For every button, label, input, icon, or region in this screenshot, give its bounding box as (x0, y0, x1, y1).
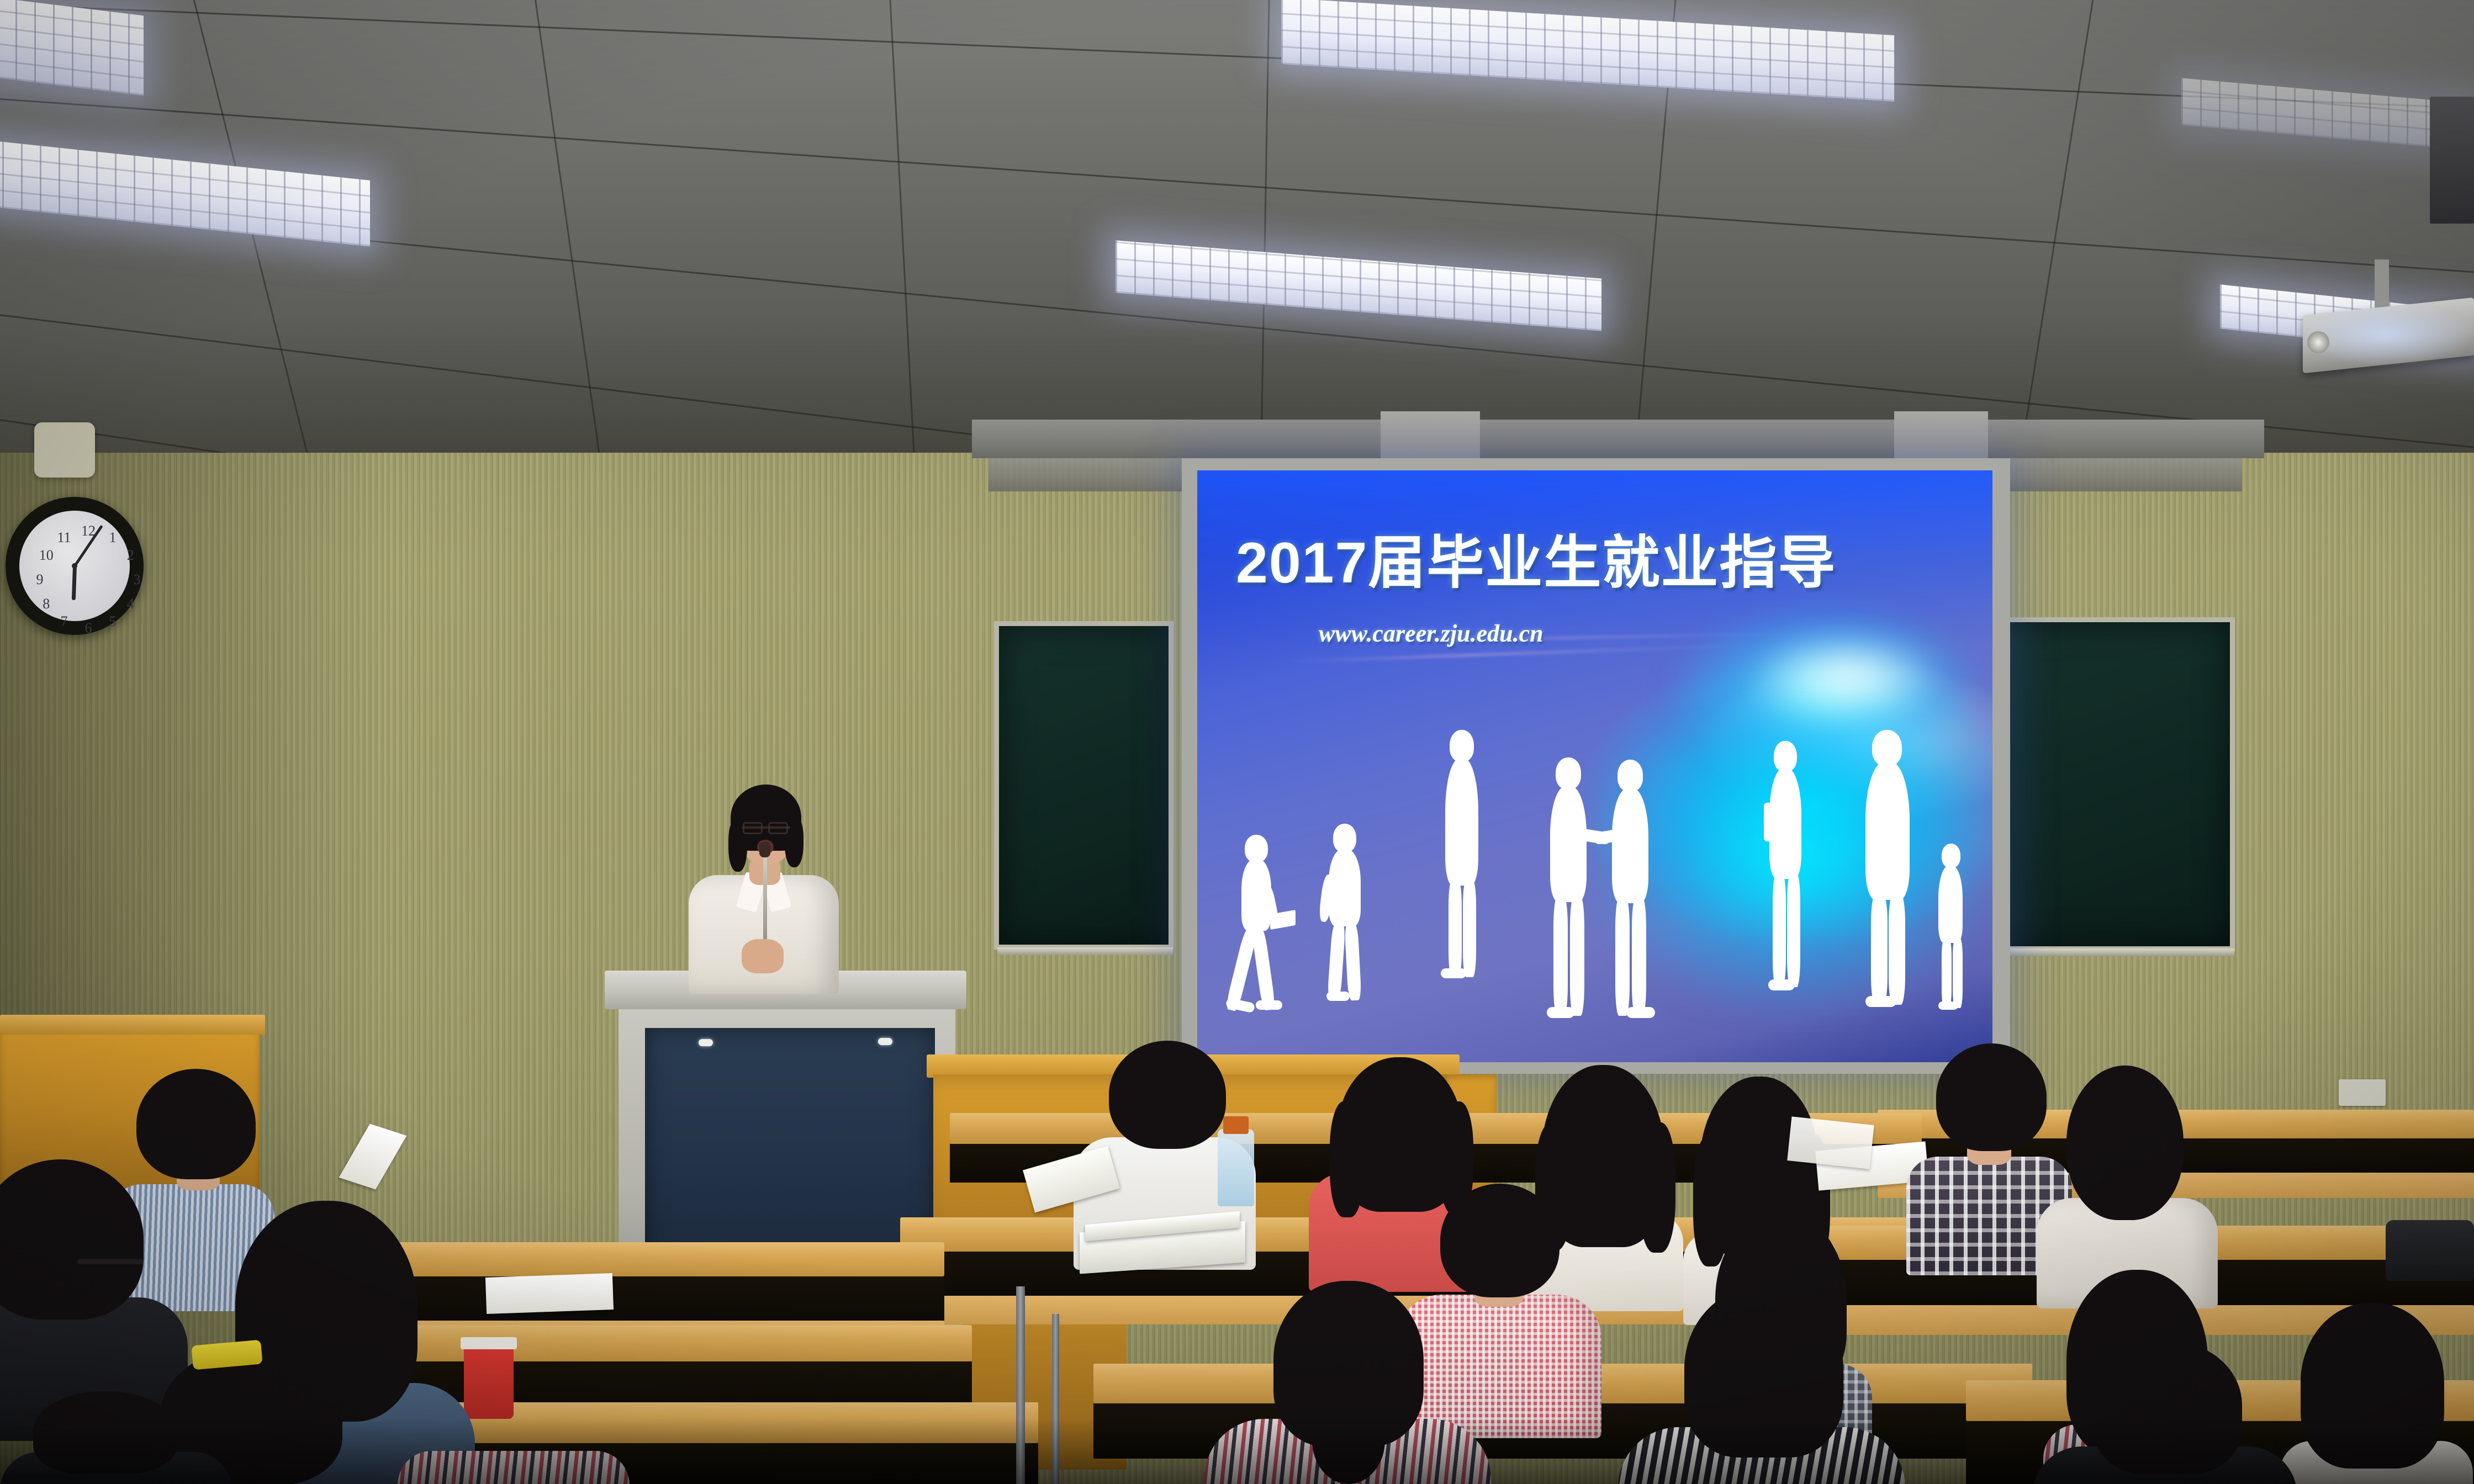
wall-clock: 121234567891011 (6, 497, 144, 635)
student-hair-strand (1330, 1101, 1364, 1217)
left-partition-cap (0, 1015, 265, 1035)
student-hair (1109, 1041, 1226, 1149)
floor-shading (0, 1418, 2474, 1484)
podium-fixture (878, 1038, 892, 1045)
clock-numeral: 6 (79, 619, 98, 638)
clock-numeral: 10 (37, 546, 56, 565)
slide-content: 2017届毕业生就业指导 www.career.zju.edu.cn (1197, 470, 1992, 1062)
ceiling-light (0, 140, 370, 247)
blackboard-left (994, 621, 1173, 950)
clock-numeral: 11 (55, 528, 73, 547)
paper-stack (1787, 1116, 1874, 1169)
ceiling (0, 0, 2474, 453)
blackboard-right (1984, 617, 2235, 951)
clock-numeral: 5 (103, 612, 122, 631)
glasses-icon (77, 1259, 144, 1264)
ceiling-grid-line (2006, 0, 2111, 453)
backpack (2386, 1220, 2474, 1281)
slide-url: www.career.zju.edu.cn (1319, 619, 1543, 648)
ceiling-speaker (2430, 97, 2474, 224)
glasses-icon (743, 822, 763, 834)
slide-figure-standing-tall (1437, 730, 1486, 978)
student-hair-strand (1639, 1122, 1675, 1253)
microphone-head-icon (759, 842, 770, 857)
chalk-tray-right (1987, 948, 2234, 956)
microphone-icon (763, 847, 767, 952)
ceiling-grid-line (0, 182, 2474, 453)
slide-figure-walking-businessman (1231, 835, 1284, 1011)
ceiling-light (1281, 0, 1894, 102)
student-hair (2066, 1066, 2184, 1220)
slide-figure-standing-bag (1762, 741, 1811, 995)
glasses-icon (768, 822, 788, 834)
slide-figure-standing-large (1858, 730, 1917, 1006)
student-white-blouse (2032, 1060, 2231, 1281)
slide-figure-walking-2 (1320, 824, 1371, 1000)
student-hair (1936, 1043, 2047, 1151)
water-bottle (1218, 1129, 1254, 1206)
podium-fixture (699, 1039, 713, 1046)
ceiling-grid-line (1259, 0, 1272, 453)
ceiling-light (1116, 240, 1601, 331)
clock-numeral: 3 (128, 570, 146, 589)
clock-numeral: 8 (37, 595, 56, 613)
chalk-tray-left (997, 947, 1173, 955)
lecture-hall-photo: 121234567891011 2017届毕业生就业指导 www.career.… (0, 0, 2474, 1484)
projector-lens (2307, 331, 2329, 353)
slide-figure-handshake-pair (1542, 757, 1669, 1022)
clock-numeral: 2 (121, 546, 140, 565)
slide-title: 2017届毕业生就业指导 (1236, 516, 1836, 599)
ceiling-light (0, 0, 144, 96)
screen-valance-bracket (1381, 411, 1480, 464)
clock-face: 121234567891011 (19, 511, 130, 621)
projection-screen: 2017届毕业生就业指导 www.career.zju.edu.cn (1182, 458, 2010, 1074)
slide-white-highlight (1755, 636, 1943, 719)
ceiling-grid-line (0, 0, 2474, 121)
slide-figure-standing-small (1932, 844, 1970, 1009)
clock-numeral: 4 (121, 595, 140, 613)
wall-box (34, 422, 95, 478)
presenter (682, 776, 848, 985)
clock-hour-hand (71, 566, 76, 600)
screen-valance-bracket (1894, 411, 1988, 464)
ceiling-grid-line (884, 0, 920, 453)
clock-numeral: 7 (55, 612, 73, 631)
presenter-hands (742, 939, 784, 973)
clock-numeral: 1 (103, 528, 122, 547)
screen-valance (972, 420, 2264, 458)
student-hair (0, 1159, 144, 1319)
paper-stack (485, 1273, 614, 1314)
wall-plate (2339, 1079, 2386, 1106)
clock-numeral: 9 (30, 570, 49, 589)
bottle-cap (1223, 1116, 1249, 1134)
